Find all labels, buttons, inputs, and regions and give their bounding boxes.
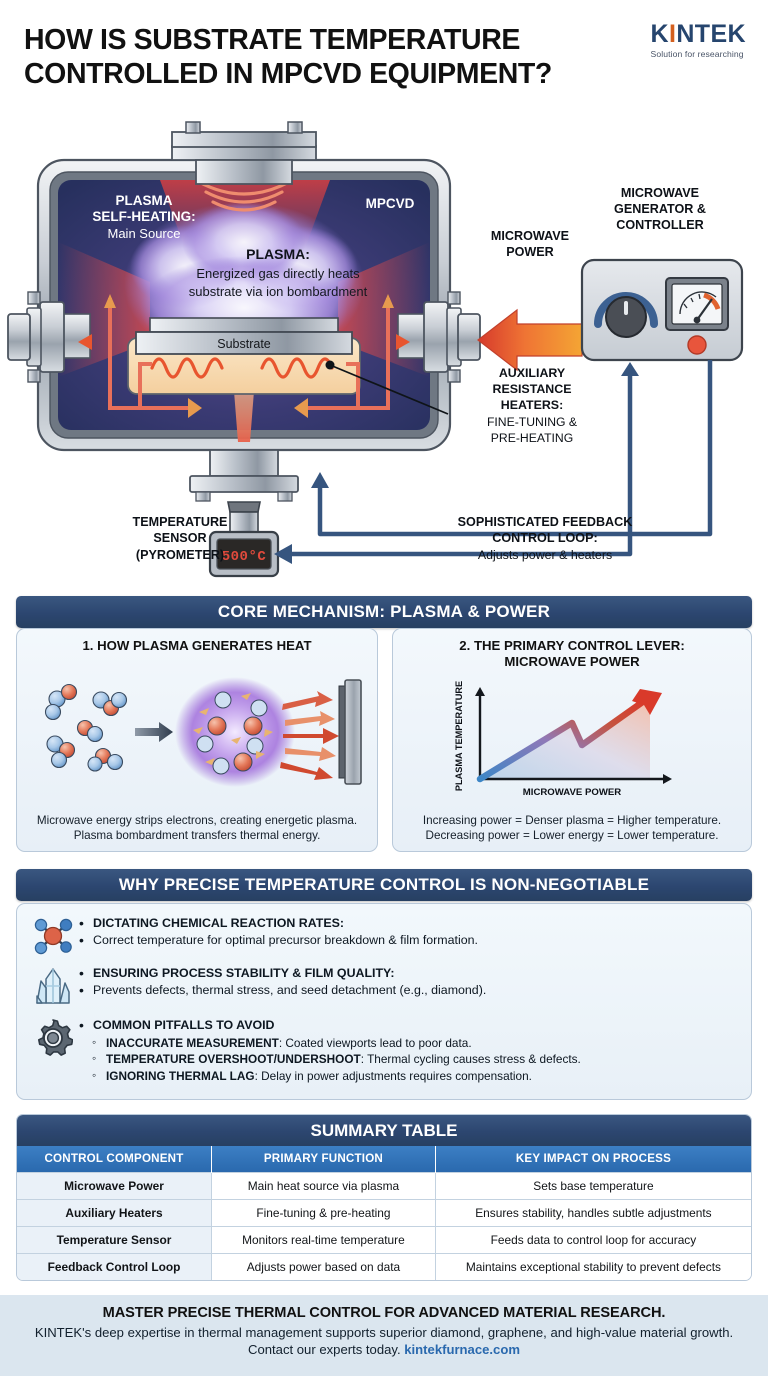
logo-tagline: Solution for researching xyxy=(651,49,746,59)
pyrometer-reading: 500°C xyxy=(222,549,267,565)
core-card1-heading: 1. HOW PLASMA GENERATES HEAT xyxy=(27,638,367,654)
generator-label-1: MICROWAVE xyxy=(621,186,699,200)
why-subitem-overshoot-undershoot: TEMPERATURE OVERSHOOT/UNDERSHOOT: Therma… xyxy=(79,1051,737,1068)
core-card-microwave-power: 2. THE PRIMARY CONTROL LEVER: MICROWAVE … xyxy=(392,628,752,852)
analog-gauge xyxy=(666,278,728,330)
bottom-port xyxy=(190,450,298,501)
header: HOW IS SUBSTRATE TEMPERATURE CONTROLLED … xyxy=(0,0,768,112)
footer-body: KINTEK's deep expertise in thermal manag… xyxy=(0,1324,768,1359)
feedback-label-3: Adjusts power & heaters xyxy=(478,548,612,562)
footer-headline: MASTER PRECISE THERMAL CONTROL FOR ADVAN… xyxy=(0,1305,768,1321)
substrate-stage: Substrate xyxy=(128,318,360,394)
table-cell-1-2: Ensures stability, handles subtle adjust… xyxy=(435,1199,751,1226)
sensor-label-2: SENSOR xyxy=(153,531,206,545)
why-subitem-inaccurate-measurement: INACCURATE MEASUREMENT: Coated viewports… xyxy=(79,1035,737,1052)
table-cell-2-2: Feeds data to control loop for accuracy xyxy=(435,1226,751,1253)
neutral-molecules xyxy=(46,685,127,772)
sensor-label-1: TEMPERATURE xyxy=(133,515,228,529)
core-card2-caption-line2: Decreasing power = Lower energy = Lower … xyxy=(403,828,741,843)
core-mechanism-banner: CORE MECHANISM: PLASMA & POWER xyxy=(16,596,752,628)
why-precise-card: DICTATING CHEMICAL REACTION RATES: Corre… xyxy=(16,903,752,1100)
core-card2-caption: Increasing power = Denser plasma = Highe… xyxy=(403,813,741,843)
table-cell-0-0: Microwave Power xyxy=(17,1172,212,1199)
plasma-self-heating-line1: PLASMA xyxy=(116,193,173,208)
feedback-label-1: SOPHISTICATED FEEDBACK xyxy=(458,515,633,529)
molecule-icon xyxy=(27,914,79,956)
power-temperature-chart: PLASMA TEMPERATURE MICROWAVE POWER xyxy=(403,670,741,812)
bombardment-arrows xyxy=(280,691,339,780)
footer-website-link[interactable]: kintekfurnace.com xyxy=(404,1342,520,1357)
target-substrate-plate xyxy=(339,680,361,784)
generator-label-2: GENERATOR & xyxy=(614,202,706,216)
table-cell-3-0: Feedback Control Loop xyxy=(17,1253,212,1280)
page-title: HOW IS SUBSTRATE TEMPERATURE CONTROLLED … xyxy=(24,24,624,91)
plasma-ball xyxy=(175,677,295,787)
table-cell-2-0: Temperature Sensor xyxy=(17,1226,212,1253)
table-col-header-1: PRIMARY FUNCTION xyxy=(212,1146,436,1172)
table-row: Auxiliary Heaters Fine-tuning & pre-heat… xyxy=(17,1199,751,1226)
table-cell-0-2: Sets base temperature xyxy=(435,1172,751,1199)
table-cell-2-1: Monitors real-time temperature xyxy=(212,1226,436,1253)
table-cell-1-0: Auxiliary Heaters xyxy=(17,1199,212,1226)
mpcvd-diagram: Substrate xyxy=(0,112,768,582)
summary-table-section: SUMMARY TABLE CONTROL COMPONENT PRIMARY … xyxy=(16,1114,752,1281)
gear-icon xyxy=(27,1016,79,1058)
aux-label-4: FINE-TUNING & xyxy=(487,415,577,429)
core-mechanism-cards: 1. HOW PLASMA GENERATES HEAT xyxy=(16,628,752,852)
why-item-0-title: DICTATING CHEMICAL REACTION RATES: xyxy=(79,915,737,932)
aux-label-2: RESISTANCE xyxy=(493,382,572,396)
aux-label-3: HEATERS: xyxy=(501,398,563,412)
microwave-generator-box xyxy=(582,260,742,360)
table-cell-0-1: Main heat source via plasma xyxy=(212,1172,436,1199)
core-banner-text: CORE MECHANISM: PLASMA & POWER xyxy=(218,602,550,622)
microwave-power-arrow xyxy=(478,310,582,370)
why-item-process-stability: ENSURING PROCESS STABILITY & FILM QUALIT… xyxy=(27,964,737,1008)
generator-label-3: CONTROLLER xyxy=(616,218,703,232)
why-banner-text: WHY PRECISE TEMPERATURE CONTROL IS NON-N… xyxy=(119,875,649,895)
table-row: Temperature Sensor Monitors real-time te… xyxy=(17,1226,751,1253)
table-col-header-0: CONTROL COMPONENT xyxy=(17,1146,212,1172)
logo-letter-k: K xyxy=(651,20,669,48)
summary-table-title: SUMMARY TABLE xyxy=(17,1115,751,1146)
aux-label-5: PRE-HEATING xyxy=(491,431,573,445)
substrate-label: Substrate xyxy=(217,337,271,351)
chart-xlabel: MICROWAVE POWER xyxy=(523,787,621,798)
table-cell-3-2: Maintains exceptional stability to preve… xyxy=(435,1253,751,1280)
table-row: Feedback Control Loop Adjusts power base… xyxy=(17,1253,751,1280)
plasma-title: PLASMA: xyxy=(246,246,310,262)
sensor-label-3: (PYROMETER) xyxy=(136,548,224,562)
why-item-common-pitfalls: COMMON PITFALLS TO AVOID INACCURATE MEAS… xyxy=(27,1016,737,1085)
table-cell-3-1: Adjusts power based on data xyxy=(212,1253,436,1280)
core-card2-caption-line1: Increasing power = Denser plasma = Highe… xyxy=(403,813,741,828)
infographic-page: HOW IS SUBSTRATE TEMPERATURE CONTROLLED … xyxy=(0,0,768,1376)
table-cell-1-1: Fine-tuning & pre-heating xyxy=(212,1199,436,1226)
core-card2-heading-line1: 2. THE PRIMARY CONTROL LEVER: xyxy=(403,638,741,654)
transition-arrow-icon xyxy=(135,722,173,742)
plasma-self-heating-sub: Main Source xyxy=(108,226,181,241)
why-subitem-thermal-lag: IGNORING THERMAL LAG: Delay in power adj… xyxy=(79,1068,737,1085)
core-card2-heading: 2. THE PRIMARY CONTROL LEVER: MICROWAVE … xyxy=(403,638,741,670)
pyrometer-sensor: 500°C xyxy=(210,502,278,576)
plasma-heat-illustration xyxy=(27,654,367,813)
logo-letters-ntek: NTEK xyxy=(676,20,746,48)
aux-label-1: AUXILIARY xyxy=(499,366,566,380)
chamber-label: MPCVD xyxy=(366,196,415,211)
core-card1-caption: Microwave energy strips electrons, creat… xyxy=(27,813,367,843)
plasma-desc-1: Energized gas directly heats xyxy=(196,266,360,281)
summary-table: CONTROL COMPONENT PRIMARY FUNCTION KEY I… xyxy=(17,1146,751,1280)
table-header-row: CONTROL COMPONENT PRIMARY FUNCTION KEY I… xyxy=(17,1146,751,1172)
why-item-reaction-rates: DICTATING CHEMICAL REACTION RATES: Corre… xyxy=(27,914,737,956)
crystal-icon xyxy=(27,964,79,1008)
why-item-1-title: ENSURING PROCESS STABILITY & FILM QUALIT… xyxy=(79,965,737,982)
why-item-2-title: COMMON PITFALLS TO AVOID xyxy=(79,1017,737,1034)
core-card-plasma-heat: 1. HOW PLASMA GENERATES HEAT xyxy=(16,628,378,852)
core-card2-heading-line2: MICROWAVE POWER xyxy=(403,654,741,670)
indicator-lamp xyxy=(688,336,706,354)
plasma-self-heating-line2: SELF-HEATING: xyxy=(92,209,195,224)
why-item-0-text: Correct temperature for optimal precurso… xyxy=(79,932,737,949)
feedback-label-2: CONTROL LOOP: xyxy=(492,531,597,545)
logo-wordmark: KINTEK xyxy=(651,22,746,47)
why-item-1-text: Prevents defects, thermal stress, and se… xyxy=(79,982,737,999)
table-row: Microwave Power Main heat source via pla… xyxy=(17,1172,751,1199)
kintek-logo: KINTEK Solution for researching xyxy=(651,22,746,59)
microwave-power-label-1: MICROWAVE xyxy=(491,229,569,243)
footer-body-text: KINTEK's deep expertise in thermal manag… xyxy=(35,1325,733,1357)
plasma-desc-2: substrate via ion bombardment xyxy=(189,284,368,299)
why-precise-banner: WHY PRECISE TEMPERATURE CONTROL IS NON-N… xyxy=(16,869,752,901)
microwave-power-label-2: POWER xyxy=(506,245,554,259)
table-col-header-2: KEY IMPACT ON PROCESS xyxy=(435,1146,751,1172)
chart-ylabel: PLASMA TEMPERATURE xyxy=(454,681,464,791)
footer: MASTER PRECISE THERMAL CONTROL FOR ADVAN… xyxy=(0,1295,768,1376)
